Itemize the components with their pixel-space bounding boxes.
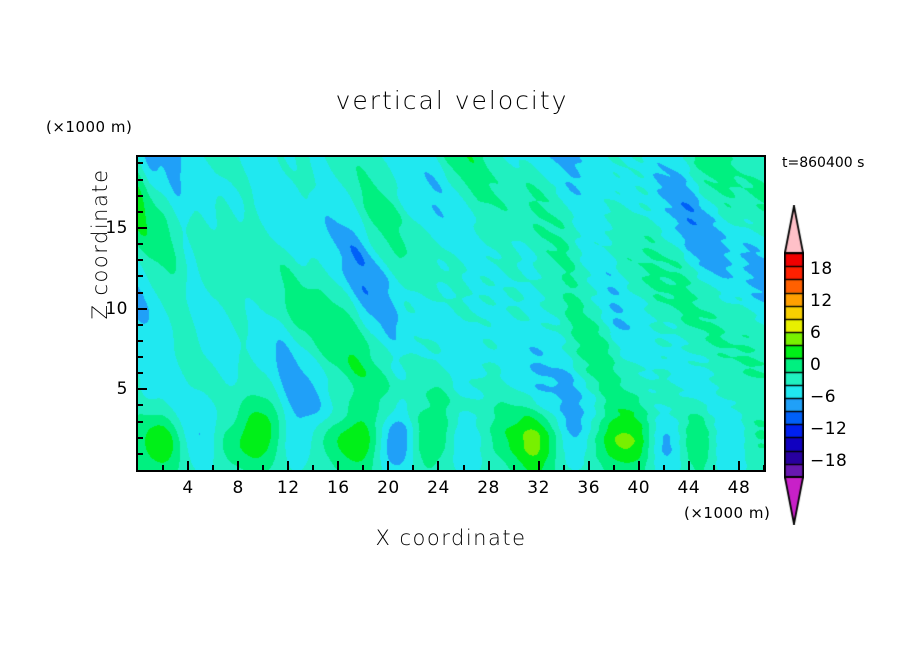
contour-field-canvas — [138, 157, 764, 470]
y-axis-tick — [138, 340, 143, 342]
x-axis-tick — [463, 465, 465, 470]
x-axis-tick — [613, 465, 615, 470]
x-axis-tick — [513, 465, 515, 470]
x-axis-tick — [437, 461, 439, 470]
colorbar-tick-label: −12 — [810, 419, 847, 439]
x-axis-tick — [412, 465, 414, 470]
x-axis-tick — [488, 461, 490, 470]
colorbar-canvas — [784, 205, 804, 525]
x-axis-tick-label: 12 — [277, 478, 300, 498]
time-annotation: t=860400 s — [782, 155, 864, 171]
x-axis-tick — [763, 465, 765, 470]
x-axis-tick-label: 48 — [728, 478, 751, 498]
y-axis-tick — [138, 453, 143, 455]
colorbar-tick-label: 12 — [810, 291, 833, 311]
x-axis-tick-label: 32 — [527, 478, 550, 498]
colorbar-tick-label: 0 — [810, 355, 821, 375]
x-axis-title: X coordinate — [136, 526, 766, 550]
x-axis-tick — [638, 461, 640, 470]
y-axis-tick — [138, 259, 143, 261]
y-axis-tick — [138, 404, 143, 406]
x-axis-tick — [713, 465, 715, 470]
y-axis-tick — [138, 324, 143, 326]
x-axis-tick-label: 28 — [477, 478, 500, 498]
page-title: vertical velocity — [0, 86, 904, 115]
x-axis-tick-label: 40 — [627, 478, 650, 498]
y-axis-tick — [138, 211, 143, 213]
y-axis-tick — [138, 292, 143, 294]
x-axis-tick-label: 8 — [232, 478, 243, 498]
x-axis-tick — [187, 461, 189, 470]
x-axis-tick-label: 20 — [377, 478, 400, 498]
y-axis-tick — [138, 421, 143, 423]
y-axis-tick — [138, 195, 143, 197]
colorbar-tick-label: 18 — [810, 259, 833, 279]
x-axis-tick — [237, 461, 239, 470]
x-axis-tick — [563, 465, 565, 470]
x-axis-tick — [663, 465, 665, 470]
x-axis-tick — [738, 461, 740, 470]
contour-plot-area — [136, 155, 766, 472]
y-axis-tick — [138, 372, 143, 374]
x-axis-tick — [287, 461, 289, 470]
y-axis-tick — [138, 275, 143, 277]
x-axis-tick-label: 24 — [427, 478, 450, 498]
x-axis-tick — [212, 465, 214, 470]
x-axis-tick-label: 16 — [327, 478, 350, 498]
x-axis-tick — [337, 461, 339, 470]
colorbar-tick-label: 6 — [810, 323, 821, 343]
y-axis-tick — [138, 308, 147, 310]
y-axis-tick-label: 10 — [105, 299, 128, 319]
y-axis-tick — [138, 162, 143, 164]
x-axis-tick — [688, 461, 690, 470]
x-axis-tick-label: 36 — [577, 478, 600, 498]
y-axis-tick — [138, 243, 143, 245]
colorbar-tick-label: −6 — [810, 387, 836, 407]
x-axis-tick — [162, 465, 164, 470]
x-axis-tick-label: 44 — [678, 478, 701, 498]
y-axis-tick-label: 15 — [105, 218, 128, 238]
x-axis-tick — [588, 461, 590, 470]
figure-root: vertical velocity (×1000 m) (×1000 m) Z … — [0, 0, 904, 654]
y-axis-tick — [138, 179, 143, 181]
x-axis-tick — [362, 465, 364, 470]
colorbar-tick-label: −18 — [810, 451, 847, 471]
y-axis-tick-label: 5 — [117, 379, 128, 399]
y-axis-tick — [138, 356, 143, 358]
x-axis-tick — [262, 465, 264, 470]
y-axis-tick — [138, 388, 147, 390]
colorbar — [784, 205, 804, 525]
x-axis-tick — [538, 461, 540, 470]
x-axis-tick — [312, 465, 314, 470]
x-axis-tick-label: 4 — [182, 478, 193, 498]
y-axis-title: Z coordinate — [88, 134, 112, 354]
x-axis-units-label: (×1000 m) — [684, 504, 770, 522]
y-axis-tick — [138, 437, 143, 439]
y-axis-tick — [138, 227, 147, 229]
x-axis-tick — [387, 461, 389, 470]
